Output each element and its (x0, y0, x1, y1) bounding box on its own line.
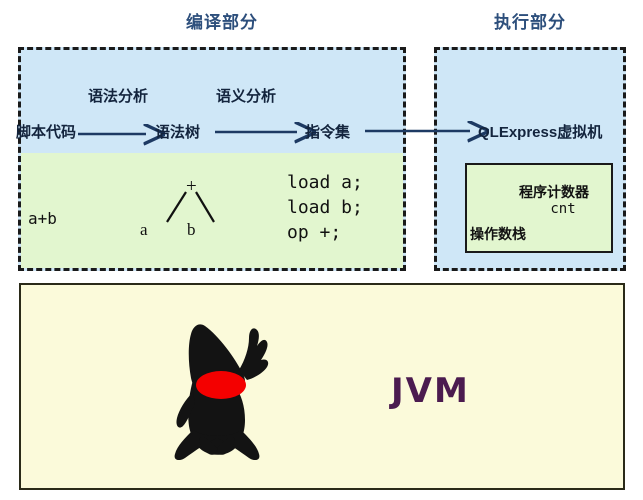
jvm-panel (19, 283, 625, 490)
diagram-canvas: 编译部分 执行部分 语法分析 语义分析 脚本代码 语法树 指令集 QLExpre… (0, 0, 643, 500)
compile-section-title: 编译部分 (147, 8, 297, 33)
ast-node-right: b (187, 220, 196, 240)
stage-instruction-set: 指令集 (305, 121, 350, 142)
label-semantic-analysis: 语义分析 (216, 85, 276, 106)
operand-stack-label: 操作数栈 (470, 224, 526, 244)
execute-section-title: 执行部分 (455, 8, 605, 33)
stage-qlexpress-vm: QLExpress虚拟机 (478, 121, 602, 142)
ast-node-left: a (140, 220, 148, 240)
duke-mascot-icon (163, 308, 275, 460)
jvm-label: JVM (391, 371, 470, 411)
program-counter-value: cnt (519, 201, 607, 217)
bytecode-listing: load a; load b; op +; (287, 170, 363, 245)
label-syntax-analysis: 语法分析 (88, 85, 148, 106)
stage-syntax-tree: 语法树 (155, 121, 200, 142)
stage-script-code: 脚本代码 (16, 121, 76, 142)
source-expression: a+b (28, 209, 57, 228)
program-counter-label: 程序计数器 (519, 182, 589, 202)
ast-node-root: + (186, 176, 197, 198)
